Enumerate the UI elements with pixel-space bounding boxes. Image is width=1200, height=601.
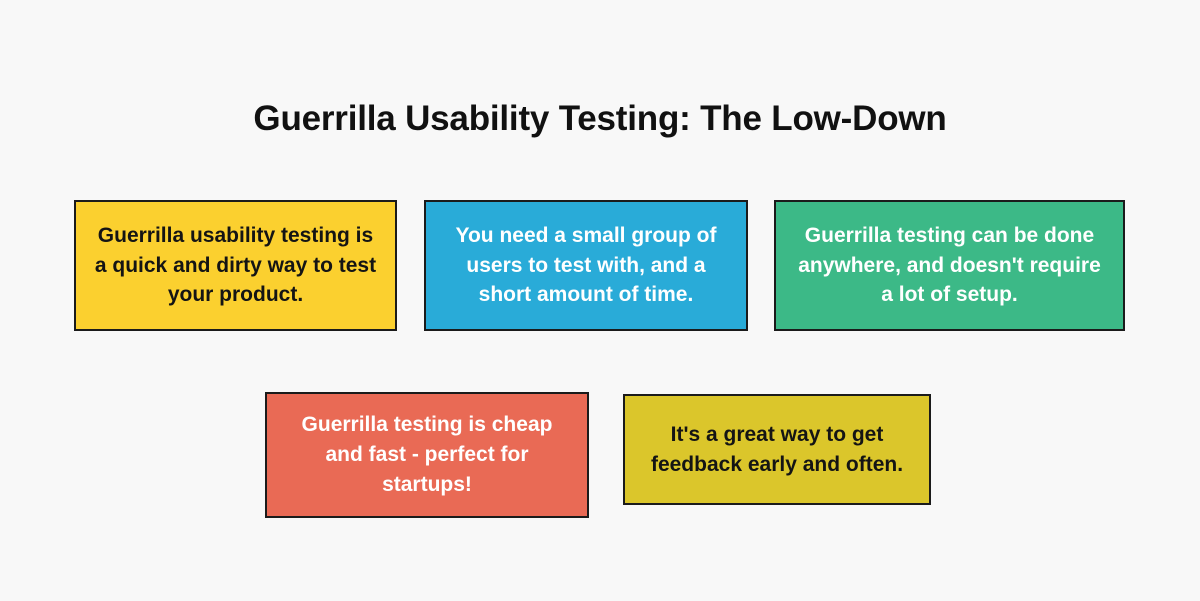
info-card-5: It's a great way to get feedback early a… [623,394,931,505]
info-card-4: Guerrilla testing is cheap and fast - pe… [265,392,589,518]
info-card-3: Guerrilla testing can be done anywhere, … [774,200,1125,331]
info-card-5-text: It's a great way to get feedback early a… [639,420,915,480]
infographic-page: Guerrilla Usability Testing: The Low-Dow… [0,0,1200,601]
page-title: Guerrilla Usability Testing: The Low-Dow… [0,98,1200,140]
info-card-1-text: Guerrilla usability testing is a quick a… [90,221,381,310]
info-card-4-text: Guerrilla testing is cheap and fast - pe… [281,410,573,499]
info-card-2: You need a small group of users to test … [424,200,748,331]
info-card-2-text: You need a small group of users to test … [440,221,732,310]
info-card-3-text: Guerrilla testing can be done anywhere, … [790,221,1109,310]
info-card-1: Guerrilla usability testing is a quick a… [74,200,397,331]
